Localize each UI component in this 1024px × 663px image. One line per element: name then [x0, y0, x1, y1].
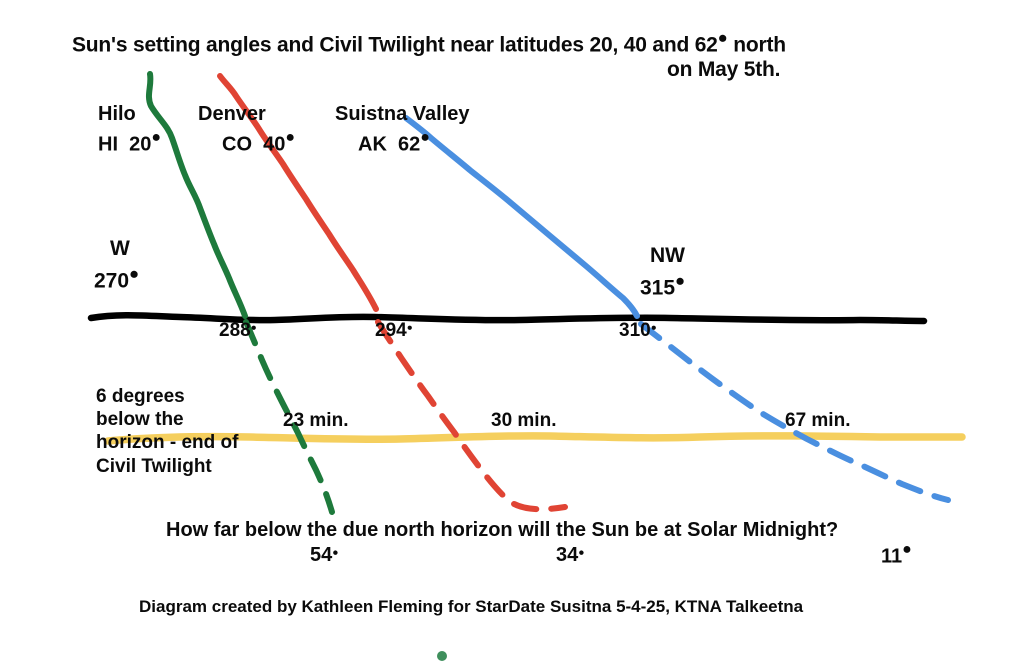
sun-path-suistna-above-horizon [406, 118, 637, 316]
station-label-suistna-name: Suistna Valley [335, 102, 470, 126]
cardinal-label-west: W [110, 236, 130, 262]
twilight-duration-suistna: 67 min. [785, 409, 850, 432]
azimuth-label-denver: 294● [375, 319, 413, 342]
horizon-line [91, 315, 924, 321]
azimuth-label-hilo: 288● [219, 319, 257, 342]
twilight-duration-hilo: 23 min. [283, 409, 348, 432]
cardinal-value-northwest: 315● [640, 271, 685, 301]
diagram-canvas [0, 0, 1024, 663]
solar-midnight-question: How far below the due north horizon will… [166, 518, 838, 542]
station-label-suistna-latitude: AK 62● [358, 128, 430, 157]
solar-midnight-depth-suistna: 11● [881, 540, 912, 569]
azimuth-label-suistna: 310● [619, 319, 657, 342]
sun-marker-hilo-bottom [437, 651, 447, 661]
page-title-line-2: on May 5th. [667, 57, 780, 83]
civil-twilight-caption: 6 degrees below the horizon - end of Civ… [96, 385, 238, 478]
solar-midnight-depth-denver: 34● [556, 543, 585, 567]
page-title-line-1: Sun's setting angles and Civil Twilight … [72, 28, 786, 58]
twilight-duration-denver: 30 min. [491, 409, 556, 432]
sun-setting-angles-diagram: Sun's setting angles and Civil Twilight … [0, 0, 1024, 663]
station-label-hilo-latitude: HI 20● [98, 128, 161, 157]
station-label-hilo-name: Hilo [98, 102, 136, 126]
solar-midnight-depth-hilo: 54● [310, 543, 339, 567]
cardinal-value-west: 270● [94, 264, 139, 294]
station-label-denver-name: Denver [198, 102, 266, 126]
diagram-credit: Diagram created by Kathleen Fleming for … [139, 597, 803, 618]
station-label-denver-latitude: CO 40● [222, 128, 295, 157]
cardinal-label-northwest: NW [650, 243, 685, 269]
